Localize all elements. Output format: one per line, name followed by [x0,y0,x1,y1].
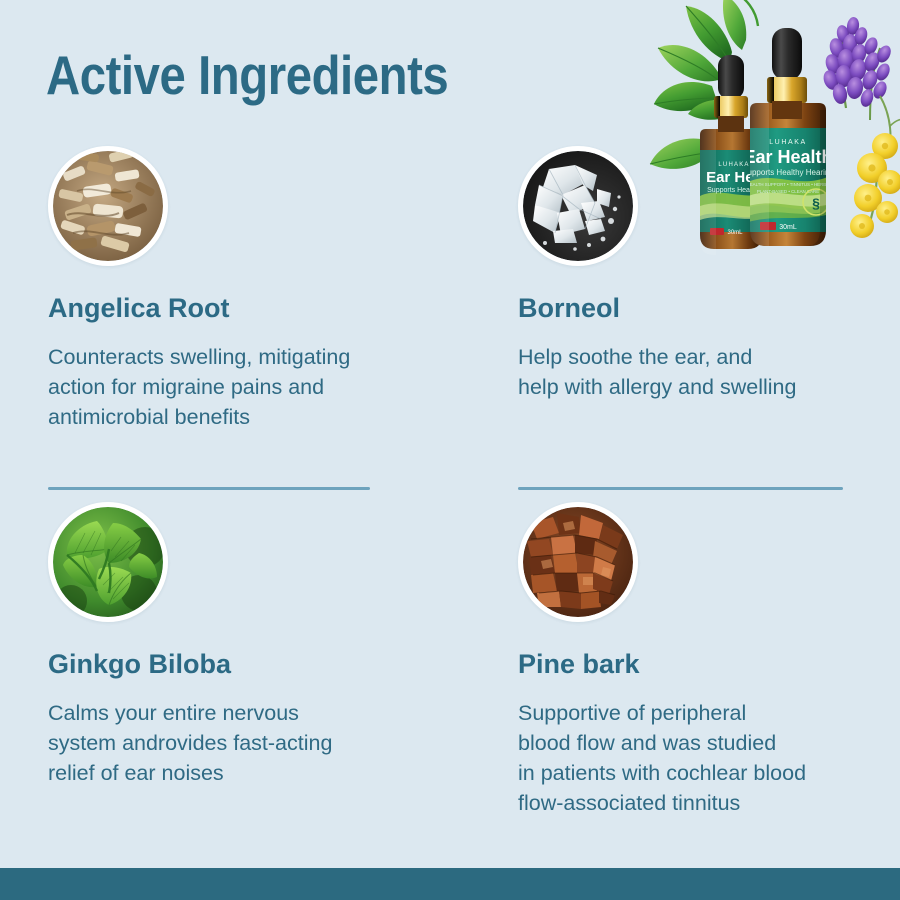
page-title: Active Ingredients [46,44,448,106]
pine-bark-thumbnail [518,502,638,622]
ingredient-name: Borneol [518,292,900,324]
ingredient-card-pine-bark: Pine bark Supportive of peripheral blood… [518,502,900,818]
ingredient-card-angelica-root: Angelica Root Counteracts swelling, miti… [48,146,448,432]
divider-left-column [48,487,370,490]
active-ingredients-infographic: Active Ingredients [0,0,900,900]
divider-right-column [518,487,843,490]
ginkgo-biloba-thumbnail [48,502,168,622]
ingredient-name: Angelica Root [48,292,448,324]
ingredient-description: Counteracts swelling, mitigating action … [48,342,448,432]
borneol-thumbnail [518,146,638,266]
ingredient-name: Ginkgo Biloba [48,648,448,680]
ingredient-description: Help soothe the ear, and help with aller… [518,342,900,402]
ingredient-description: Calms your entire nervous system androvi… [48,698,448,788]
bottom-accent-bar [0,868,900,900]
angelica-root-thumbnail [48,146,168,266]
svg-text:LUHAKA: LUHAKA [769,139,807,146]
ingredient-description: Supportive of peripheral blood flow and … [518,698,900,818]
ingredient-card-borneol: Borneol Help soothe the ear, and help wi… [518,146,900,402]
ingredient-name: Pine bark [518,648,900,680]
ingredient-card-ginkgo-biloba: Ginkgo Biloba Calms your entire nervous … [48,502,448,788]
